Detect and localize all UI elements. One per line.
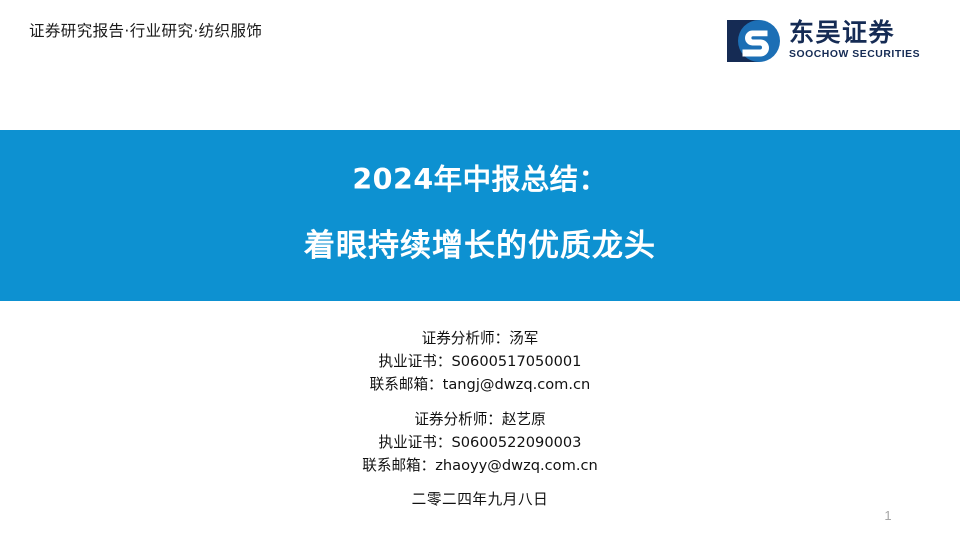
analyst-entry: 证券分析师：汤军 执业证书：S0600517050001 联系邮箱：tangj@… bbox=[0, 327, 960, 397]
analyst-license-line: 执业证书：S0600522090003 bbox=[0, 431, 960, 454]
soochow-s-mark-icon bbox=[727, 19, 785, 64]
analyst-name-line: 证券分析师：汤军 bbox=[0, 327, 960, 350]
page-number: 1 bbox=[876, 508, 900, 524]
report-cover-slide: 证券研究报告·行业研究·纺织服饰 东吴证券 SOOCHOW SECURITIES… bbox=[0, 0, 960, 540]
analyst-info-block: 证券分析师：汤军 执业证书：S0600517050001 联系邮箱：tangj@… bbox=[0, 327, 960, 511]
analyst-email-line[interactable]: 联系邮箱：tangj@dwzq.com.cn bbox=[0, 373, 960, 396]
title-banner: 2024年中报总结： 着眼持续增长的优质龙头 bbox=[0, 130, 960, 301]
report-date: 二零二四年九月八日 bbox=[0, 488, 960, 511]
report-title-line-2: 着眼持续增长的优质龙头 bbox=[0, 226, 960, 266]
company-name-en: SOOCHOW SECURITIES bbox=[789, 49, 920, 61]
report-category-label: 证券研究报告·行业研究·纺织服饰 bbox=[29, 20, 262, 42]
company-logo-text: 东吴证券 SOOCHOW SECURITIES bbox=[789, 17, 907, 67]
report-title-line-1: 2024年中报总结： bbox=[0, 162, 960, 198]
analyst-email-line[interactable]: 联系邮箱：zhaoyy@dwzq.com.cn bbox=[0, 454, 960, 477]
analyst-name-line: 证券分析师：赵艺原 bbox=[0, 408, 960, 431]
analyst-entry: 证券分析师：赵艺原 执业证书：S0600522090003 联系邮箱：zhaoy… bbox=[0, 408, 960, 478]
company-logo: 东吴证券 SOOCHOW SECURITIES bbox=[727, 17, 907, 69]
slide-header: 证券研究报告·行业研究·纺织服饰 东吴证券 SOOCHOW SECURITIES bbox=[0, 0, 960, 130]
company-name-cn: 东吴证券 bbox=[789, 18, 895, 47]
analyst-license-line: 执业证书：S0600517050001 bbox=[0, 350, 960, 373]
